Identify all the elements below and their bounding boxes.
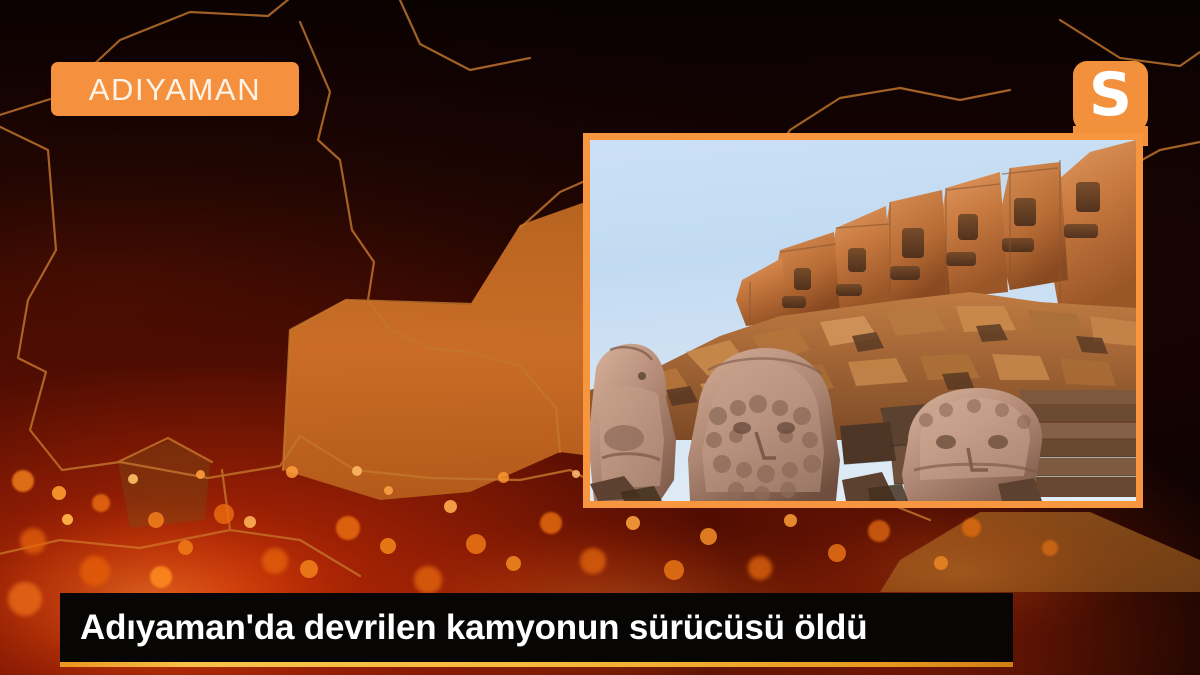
photo-artwork [590, 140, 1136, 501]
photo-nemrut-statues [590, 140, 1136, 501]
page-title: Adıyaman'da devrilen kamyonun sürücüsü ö… [80, 610, 867, 645]
s-logo[interactable]: S [1073, 61, 1148, 131]
news-card-stage: ADIYAMAN S [0, 0, 1200, 675]
city-badge-label: ADIYAMAN [89, 74, 261, 105]
photo-frame[interactable] [583, 133, 1143, 508]
city-badge: ADIYAMAN [51, 62, 299, 116]
headline-underline [60, 662, 1013, 667]
headline-bar: Adıyaman'da devrilen kamyonun sürücüsü ö… [60, 593, 1013, 662]
s-logo-mark: S [1089, 65, 1132, 125]
